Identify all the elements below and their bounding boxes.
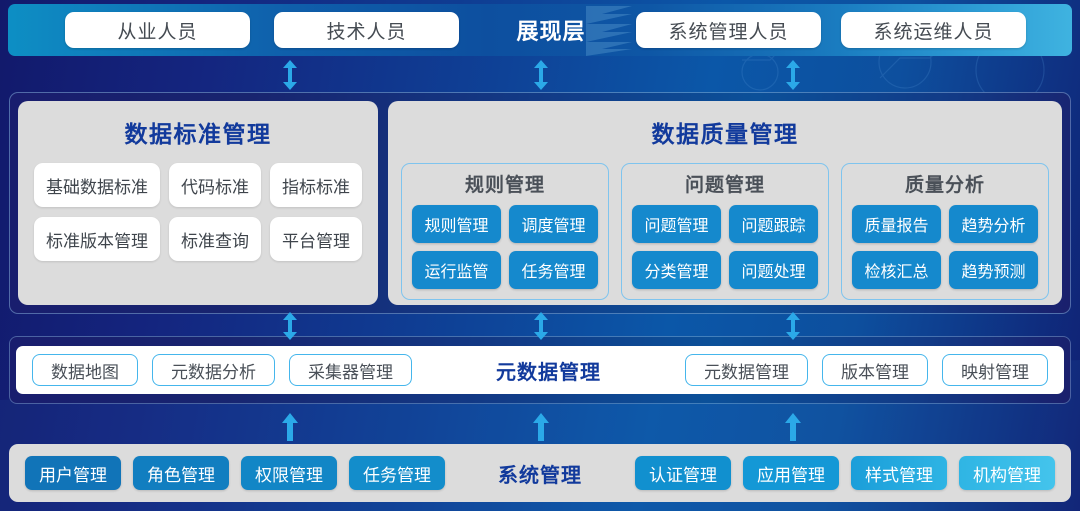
- system-layer-panel: 用户管理 角色管理 权限管理 任务管理 系统管理 认证管理 应用管理 样式管理 …: [9, 444, 1071, 502]
- presentation-layer-bar: 从业人员 技术人员 展现层 系统管理人员 系统运维人员: [8, 4, 1072, 56]
- std-item-4[interactable]: 标准查询: [169, 217, 261, 261]
- sys-left-item-1[interactable]: 角色管理: [133, 456, 229, 490]
- metadata-strip: 数据地图 元数据分析 采集器管理 元数据管理 元数据管理 版本管理 映射管理: [16, 346, 1064, 394]
- role-pill-1[interactable]: 技术人员: [274, 12, 459, 48]
- std-item-3[interactable]: 标准版本管理: [34, 217, 160, 261]
- issue-item-3[interactable]: 问题处理: [729, 251, 818, 289]
- meta-left-item-0-label: 数据地图: [51, 358, 119, 383]
- analysis-item-2-label: 检核汇总: [864, 258, 928, 282]
- quality-group-issue-items: 问题管理 问题跟踪 分类管理 问题处理: [632, 205, 818, 289]
- management-layer-panel: 数据标准管理 基础数据标准 代码标准 指标标准 标准版本管理 标准查询 平台管理…: [9, 92, 1071, 314]
- meta-right-item-1-label: 版本管理: [841, 358, 909, 383]
- issue-item-0[interactable]: 问题管理: [632, 205, 721, 243]
- quality-group-issue: 问题管理 问题管理 问题跟踪 分类管理 问题处理: [621, 163, 829, 300]
- metadata-right-group: 元数据管理 版本管理 映射管理: [685, 354, 1048, 386]
- std-item-4-label: 标准查询: [181, 227, 249, 252]
- meta-right-item-1[interactable]: 版本管理: [822, 354, 928, 386]
- data-standard-items: 基础数据标准 代码标准 指标标准 标准版本管理 标准查询 平台管理: [28, 163, 368, 261]
- presentation-layer-title: 展现层: [496, 14, 606, 46]
- sys-left-item-1-label: 角色管理: [147, 461, 215, 486]
- meta-right-item-0[interactable]: 元数据管理: [685, 354, 808, 386]
- analysis-item-1[interactable]: 趋势分析: [949, 205, 1038, 243]
- sys-left-item-3[interactable]: 任务管理: [349, 456, 445, 490]
- sys-right-item-1-label: 应用管理: [757, 461, 825, 486]
- sys-right-item-3[interactable]: 机构管理: [959, 456, 1055, 490]
- meta-right-item-2-label: 映射管理: [961, 358, 1029, 383]
- quality-group-analysis-title: 质量分析: [852, 170, 1038, 197]
- role-pill-1-label: 技术人员: [326, 17, 406, 44]
- rule-item-3[interactable]: 任务管理: [509, 251, 598, 289]
- analysis-item-2[interactable]: 检核汇总: [852, 251, 941, 289]
- bidirectional-arrow-middle-3: [783, 312, 803, 340]
- issue-item-1-label: 问题跟踪: [741, 212, 805, 236]
- role-pill-3[interactable]: 系统运维人员: [841, 12, 1026, 48]
- metadata-left-group: 数据地图 元数据分析 采集器管理: [32, 354, 412, 386]
- system-left-group: 用户管理 角色管理 权限管理 任务管理: [25, 456, 445, 490]
- metadata-layer-title: 元数据管理: [484, 356, 613, 385]
- meta-left-item-1-label: 元数据分析: [171, 358, 256, 383]
- meta-right-item-0-label: 元数据管理: [704, 358, 789, 383]
- std-item-5-label: 平台管理: [282, 227, 350, 252]
- rule-item-1-label: 调度管理: [521, 212, 585, 236]
- role-pill-2[interactable]: 系统管理人员: [636, 12, 821, 48]
- quality-group-issue-title: 问题管理: [632, 170, 818, 197]
- quality-group-rule: 规则管理 规则管理 调度管理 运行监管 任务管理: [401, 163, 609, 300]
- rule-item-1[interactable]: 调度管理: [509, 205, 598, 243]
- data-standard-title: 数据标准管理: [28, 115, 368, 149]
- quality-group-rule-items: 规则管理 调度管理 运行监管 任务管理: [412, 205, 598, 289]
- bidirectional-arrow-middle-2: [531, 312, 551, 340]
- sys-left-item-3-label: 任务管理: [363, 461, 431, 486]
- bidirectional-arrow-upper-2: [531, 60, 551, 90]
- role-pill-0[interactable]: 从业人员: [65, 12, 250, 48]
- bidirectional-arrow-middle-1: [280, 312, 300, 340]
- up-arrow-lower-1: [281, 413, 299, 441]
- quality-group-analysis: 质量分析 质量报告 趋势分析 检核汇总 趋势预测: [841, 163, 1049, 300]
- issue-item-2-label: 分类管理: [644, 258, 708, 282]
- sys-left-item-0[interactable]: 用户管理: [25, 456, 121, 490]
- role-pill-0-label: 从业人员: [117, 17, 197, 44]
- rule-item-2-label: 运行监管: [424, 258, 488, 282]
- sys-left-item-2-label: 权限管理: [255, 461, 323, 486]
- up-arrow-lower-2: [532, 413, 550, 441]
- data-quality-title: 数据质量管理: [398, 115, 1052, 149]
- issue-item-1[interactable]: 问题跟踪: [729, 205, 818, 243]
- std-item-2-label: 指标标准: [282, 173, 350, 198]
- sys-right-item-3-label: 机构管理: [973, 461, 1041, 486]
- sys-right-item-1[interactable]: 应用管理: [743, 456, 839, 490]
- role-pill-3-label: 系统运维人员: [873, 17, 993, 44]
- data-standard-card: 数据标准管理 基础数据标准 代码标准 指标标准 标准版本管理 标准查询 平台管理: [18, 101, 378, 305]
- sys-right-item-0-label: 认证管理: [649, 461, 717, 486]
- std-item-3-label: 标准版本管理: [46, 227, 148, 252]
- analysis-item-0-label: 质量报告: [864, 212, 928, 236]
- std-item-1-label: 代码标准: [181, 173, 249, 198]
- system-right-group: 认证管理 应用管理 样式管理 机构管理: [635, 456, 1055, 490]
- std-item-1[interactable]: 代码标准: [169, 163, 261, 207]
- std-item-5[interactable]: 平台管理: [270, 217, 362, 261]
- rule-item-0-label: 规则管理: [424, 212, 488, 236]
- meta-left-item-1[interactable]: 元数据分析: [152, 354, 275, 386]
- meta-left-item-0[interactable]: 数据地图: [32, 354, 138, 386]
- system-layer-title: 系统管理: [488, 459, 592, 488]
- rule-item-3-label: 任务管理: [521, 258, 585, 282]
- issue-item-0-label: 问题管理: [644, 212, 708, 236]
- sys-left-item-2[interactable]: 权限管理: [241, 456, 337, 490]
- role-pill-2-label: 系统管理人员: [668, 17, 788, 44]
- meta-left-item-2[interactable]: 采集器管理: [289, 354, 412, 386]
- meta-left-item-2-label: 采集器管理: [308, 358, 393, 383]
- sys-right-item-0[interactable]: 认证管理: [635, 456, 731, 490]
- sys-right-item-2-label: 样式管理: [865, 461, 933, 486]
- quality-group-rule-title: 规则管理: [412, 170, 598, 197]
- analysis-item-3[interactable]: 趋势预测: [949, 251, 1038, 289]
- data-quality-card: 数据质量管理 规则管理 规则管理 调度管理 运行监管 任务管理 问题管理 问题管…: [388, 101, 1062, 305]
- rule-item-0[interactable]: 规则管理: [412, 205, 501, 243]
- issue-item-2[interactable]: 分类管理: [632, 251, 721, 289]
- meta-right-item-2[interactable]: 映射管理: [942, 354, 1048, 386]
- std-item-0[interactable]: 基础数据标准: [34, 163, 160, 207]
- data-quality-groups: 规则管理 规则管理 调度管理 运行监管 任务管理 问题管理 问题管理 问题跟踪 …: [398, 163, 1052, 300]
- sys-right-item-2[interactable]: 样式管理: [851, 456, 947, 490]
- sys-left-item-0-label: 用户管理: [39, 461, 107, 486]
- metadata-layer-panel: 数据地图 元数据分析 采集器管理 元数据管理 元数据管理 版本管理 映射管理: [9, 336, 1071, 404]
- std-item-2[interactable]: 指标标准: [270, 163, 362, 207]
- analysis-item-0[interactable]: 质量报告: [852, 205, 941, 243]
- quality-group-analysis-items: 质量报告 趋势分析 检核汇总 趋势预测: [852, 205, 1038, 289]
- architecture-diagram: 从业人员 技术人员 展现层 系统管理人员 系统运维人员 数据标准管理 基础数据标…: [0, 0, 1080, 511]
- issue-item-3-label: 问题处理: [741, 258, 805, 282]
- bidirectional-arrow-upper-3: [783, 60, 803, 90]
- rule-item-2[interactable]: 运行监管: [412, 251, 501, 289]
- std-item-0-label: 基础数据标准: [46, 173, 148, 198]
- analysis-item-3-label: 趋势预测: [961, 258, 1025, 282]
- analysis-item-1-label: 趋势分析: [961, 212, 1025, 236]
- bidirectional-arrow-upper-1: [280, 60, 300, 90]
- up-arrow-lower-3: [784, 413, 802, 441]
